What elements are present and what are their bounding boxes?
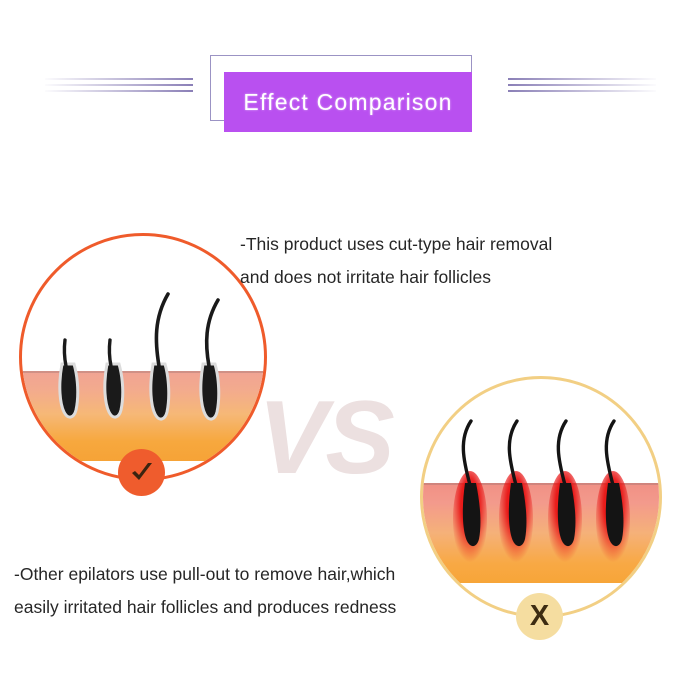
bad-caption-line2: easily irritated hair follicles and prod… xyxy=(14,591,484,624)
follicle-long-3 xyxy=(151,294,169,419)
follicle-irritated-3 xyxy=(548,421,582,567)
good-caption-line1: -This product uses cut-type hair removal xyxy=(240,228,640,261)
follicle-irritated-4 xyxy=(596,421,630,567)
follicle-irritated-1 xyxy=(453,421,487,567)
follicle-cut-1 xyxy=(60,340,78,417)
hair-follicles-good xyxy=(22,236,267,481)
good-caption-line2: and does not irritate hair follicles xyxy=(240,261,640,294)
title-banner: Effect Comparison xyxy=(224,72,472,132)
header-banner: Effect Comparison xyxy=(0,0,683,170)
versus-label: VS xyxy=(258,386,393,490)
cross-badge: X xyxy=(516,593,563,640)
good-illustration-circle xyxy=(19,233,267,481)
page-title: Effect Comparison xyxy=(243,89,452,116)
triple-line-right-icon xyxy=(508,78,656,92)
follicle-long-4 xyxy=(201,300,219,419)
check-badge xyxy=(118,449,165,496)
bad-caption-line1: -Other epilators use pull-out to remove … xyxy=(14,558,484,591)
follicle-irritated-2 xyxy=(499,421,533,567)
comparison-infographic: Effect Comparison VS xyxy=(0,0,683,683)
cross-icon: X xyxy=(530,602,549,631)
bad-caption: -Other epilators use pull-out to remove … xyxy=(14,558,484,624)
good-caption: -This product uses cut-type hair removal… xyxy=(240,228,640,294)
follicle-cut-2 xyxy=(105,340,123,417)
triple-line-left-icon xyxy=(45,78,193,92)
check-icon xyxy=(127,458,157,488)
